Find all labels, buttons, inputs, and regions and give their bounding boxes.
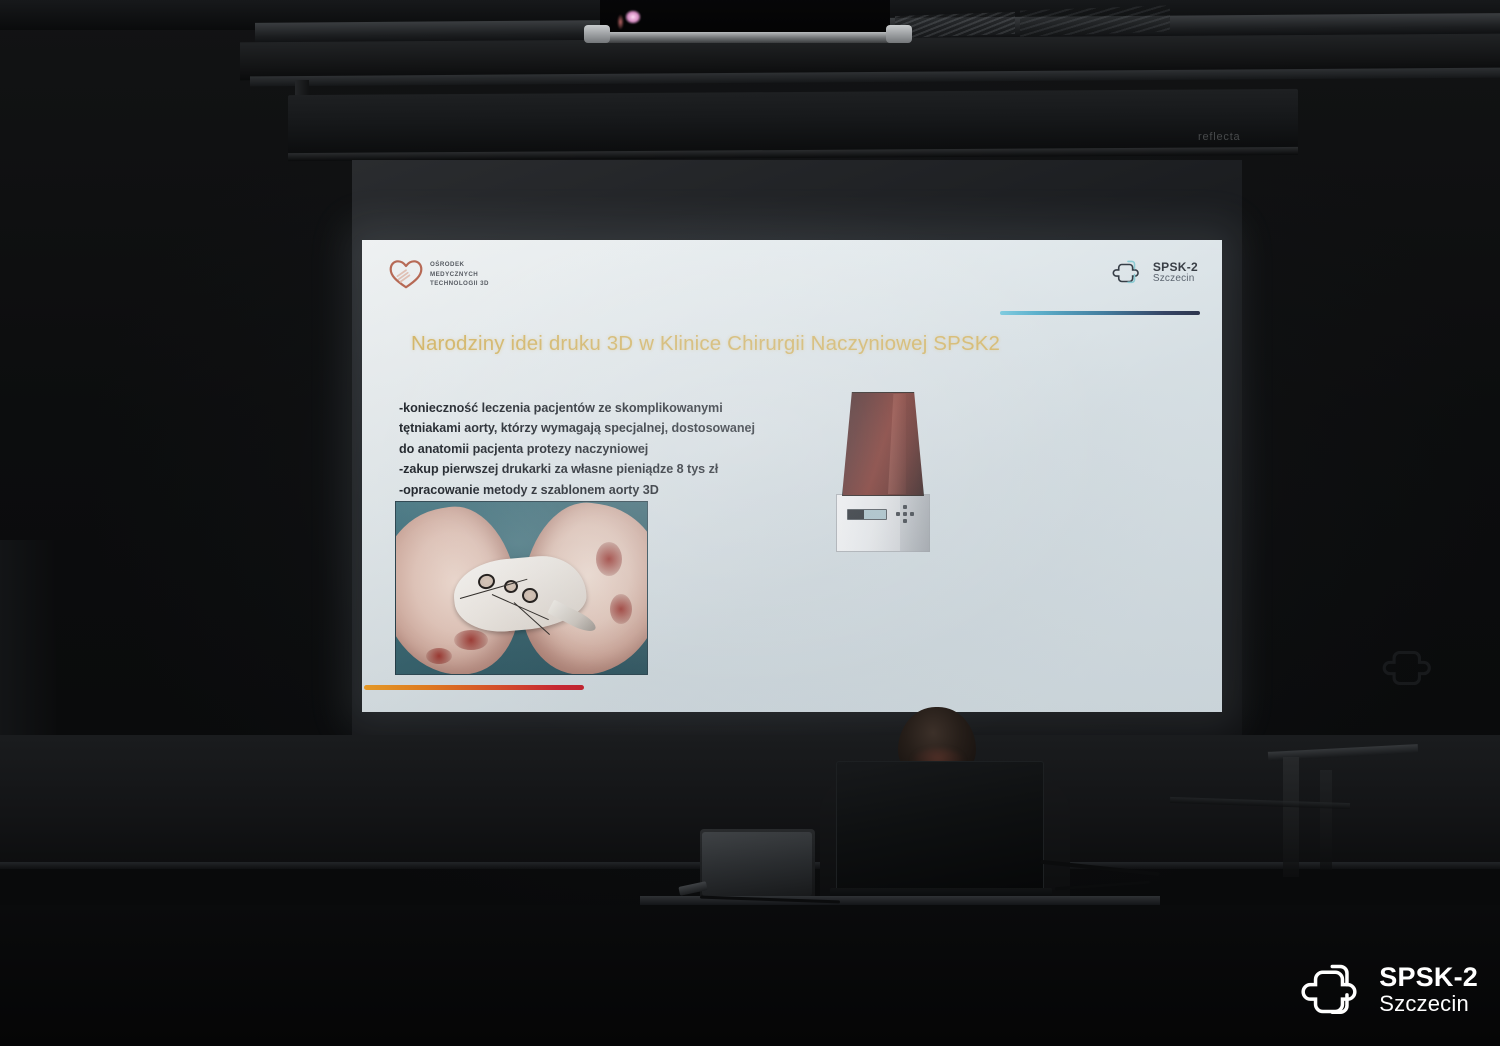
spsk-logo-text: SPSK-2 Szczecin — [1153, 261, 1198, 285]
right-railing-post-secondary — [1320, 770, 1332, 870]
wall-spsk-cross-icon — [1380, 640, 1442, 696]
right-railing-post — [1283, 757, 1299, 877]
blood-stain — [426, 648, 452, 664]
lecture-room-scene: reflecta OŚRODEK MEDYCZNYCH TECHNOLOGII … — [0, 0, 1500, 1046]
blood-stain — [596, 542, 622, 576]
bullet-line: -konieczność leczenia pacjentów ze skomp… — [399, 398, 819, 418]
screen-brand-label: reflecta — [1198, 131, 1240, 143]
watermark-text: SPSK-2 Szczecin — [1379, 962, 1478, 1017]
slide-header-divider — [1000, 311, 1200, 315]
osrodek-medycznych-technologii-logo: OŚRODEK MEDYCZNYCH TECHNOLOGII 3D — [389, 259, 489, 290]
slide-title: Narodziny idei druku 3D w Klinice Chirur… — [411, 332, 1181, 356]
closed-laptop-lid-surface — [702, 832, 812, 896]
spsk-logo-city: Szczecin — [1153, 274, 1198, 285]
heart-hand-icon — [389, 259, 423, 290]
projector-mount-bracket — [588, 32, 908, 43]
spsk2-watermark: SPSK-2 Szczecin — [1301, 960, 1478, 1018]
projector-status-led-secondary — [617, 14, 624, 30]
spsk-cross-icon — [1301, 960, 1365, 1018]
spsk-cross-icon — [1111, 258, 1145, 288]
projector-status-led — [625, 10, 641, 24]
watermark-name: SPSK-2 — [1379, 962, 1478, 992]
slide-bullet-list: -konieczność leczenia pacjentów ze skomp… — [399, 398, 819, 500]
blood-stain — [454, 630, 488, 650]
bullet-line: -zakup pierwszej drukarki za własne pien… — [399, 459, 819, 479]
bullet-line: tętniakami aorty, którzy wymagają specja… — [399, 418, 819, 438]
surgery-photo — [395, 501, 648, 675]
bullet-line: -opracowanie metody z szablonem aorty 3D — [399, 480, 819, 500]
resin-3d-printer-photo — [830, 392, 934, 554]
presentation-slide: OŚRODEK MEDYCZNYCH TECHNOLOGII 3D SPSK-2… — [362, 240, 1222, 712]
printer-lcd-display — [847, 509, 887, 520]
desk-front-panel — [0, 905, 1500, 1046]
bullet-line: do anatomii pacjenta protezy naczyniowej — [399, 439, 819, 459]
projector-vent-grille-secondary — [1020, 5, 1170, 36]
blood-stain — [610, 594, 632, 624]
ceiling-projector — [600, 0, 890, 36]
spsk2-slide-logo: SPSK-2 Szczecin — [1111, 258, 1198, 288]
presenter-laptop[interactable] — [836, 761, 1044, 897]
slide-footer-accent-bar — [364, 685, 584, 690]
printer-uv-hood — [842, 392, 924, 496]
projector-vent-grille — [895, 12, 1015, 38]
printer-dpad-buttons — [896, 505, 915, 524]
osrodek-logo-text: OŚRODEK MEDYCZNYCH TECHNOLOGII 3D — [430, 260, 489, 289]
watermark-city: Szczecin — [1379, 992, 1478, 1017]
